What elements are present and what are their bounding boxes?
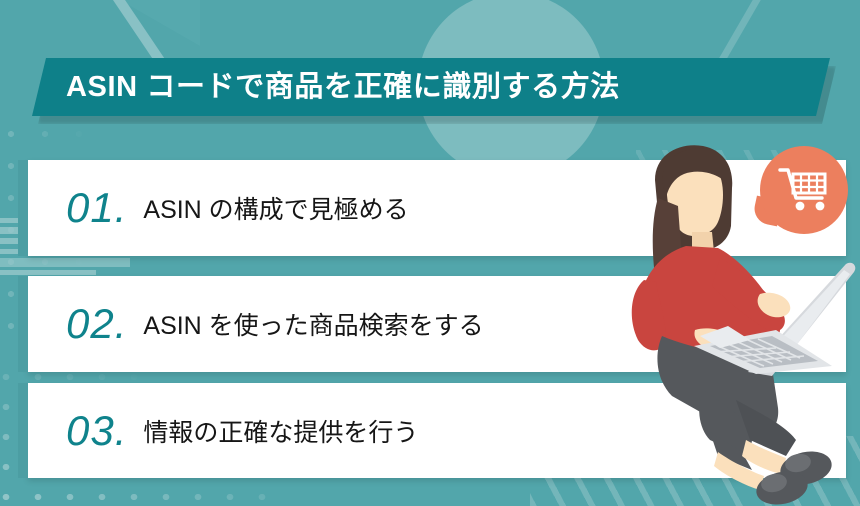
title-banner: ASIN コードで商品を正確に識別する方法 bbox=[32, 58, 832, 118]
list-item-number: 03. bbox=[66, 410, 127, 452]
list-item-label: ASIN を使った商品検索をする bbox=[143, 306, 483, 342]
list-item-number: 02. bbox=[66, 303, 127, 345]
list-item-number: 01. bbox=[66, 187, 127, 229]
list-item-label: ASIN の構成で見極める bbox=[143, 190, 408, 226]
cart-bubble bbox=[752, 146, 848, 242]
list-item-label: 情報の正確な提供を行う bbox=[143, 413, 418, 449]
infographic-canvas: ASIN コードで商品を正確に識別する方法 01. ASIN の構成で見極める … bbox=[0, 0, 860, 506]
shopping-cart-icon bbox=[778, 166, 830, 219]
title-banner-body: ASIN コードで商品を正確に識別する方法 bbox=[32, 58, 830, 116]
page-title: ASIN コードで商品を正確に識別する方法 bbox=[66, 73, 620, 102]
